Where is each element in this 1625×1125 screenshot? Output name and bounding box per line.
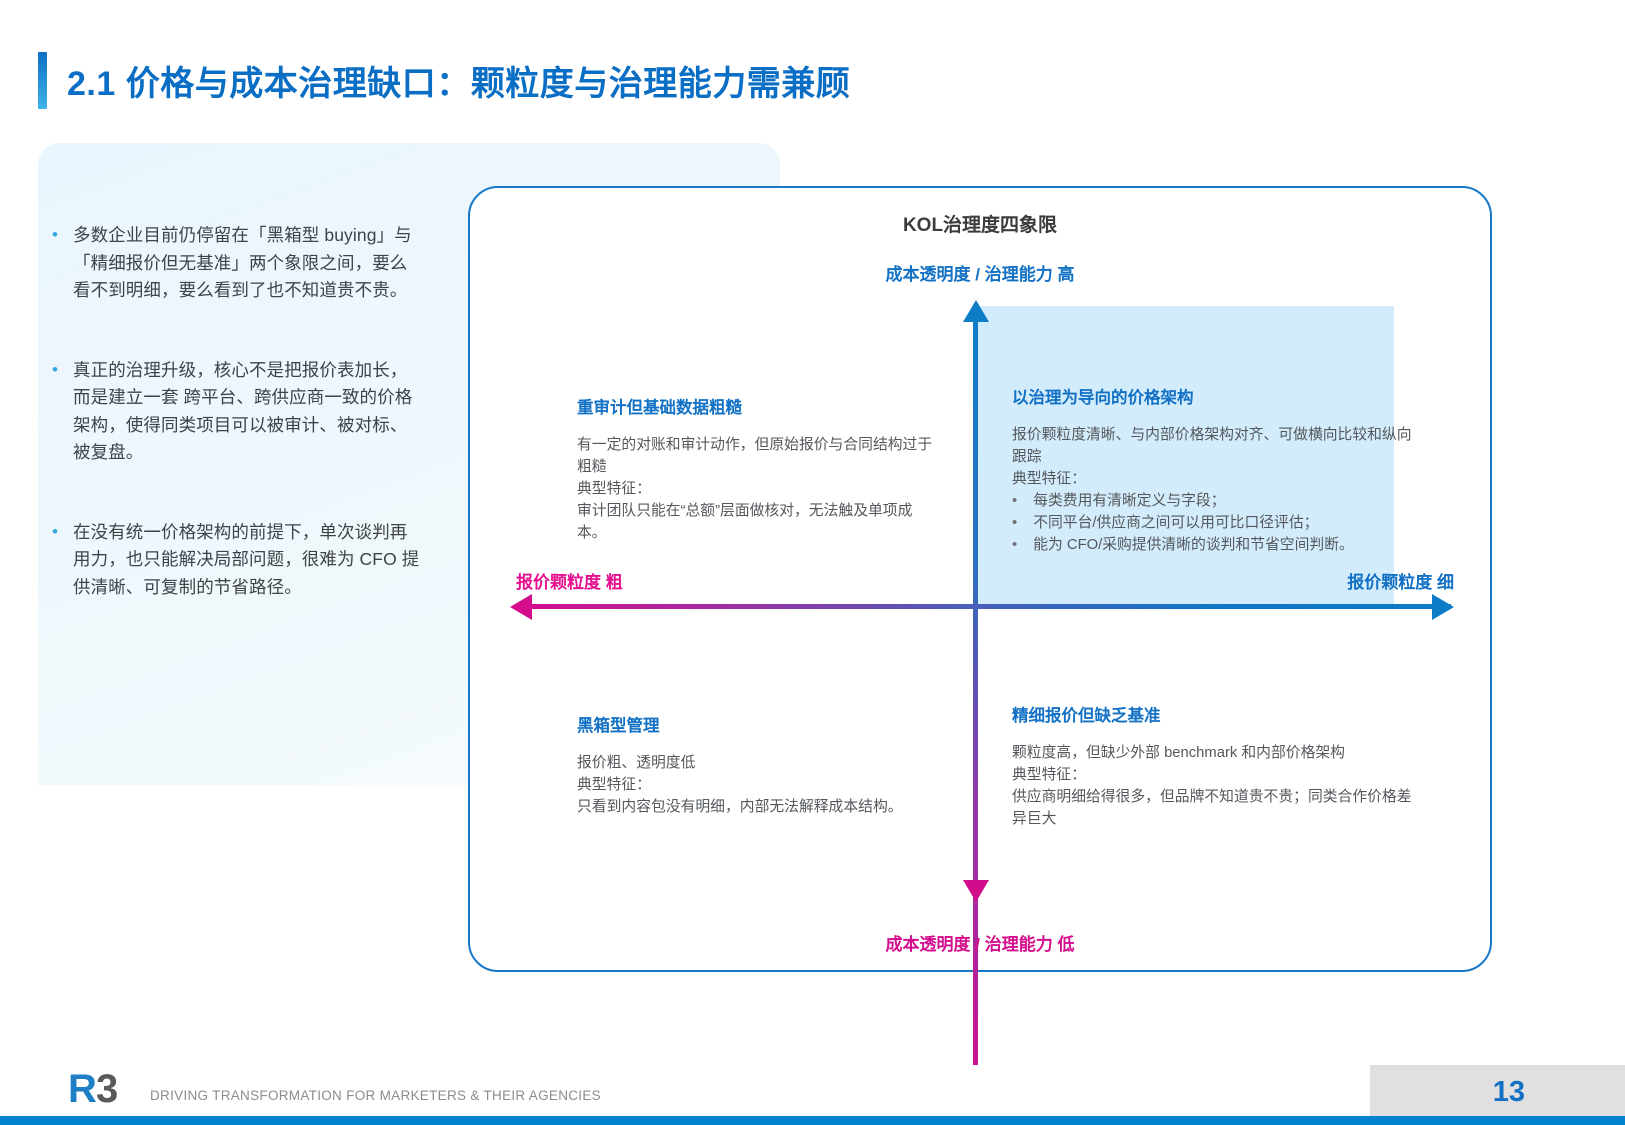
- quadrant-line: 供应商明细给得很多，但品牌不知道贵不贵；同类合作价格差异巨大: [1012, 786, 1422, 830]
- quadrant-bottom-right: 精细报价但缺乏基准 颗粒度高，但缺少外部 benchmark 和内部价格架构 典…: [1012, 702, 1422, 830]
- quadrant-line: 典型特征：: [1012, 468, 1422, 490]
- logo-letter-3: 3: [96, 1071, 118, 1107]
- quadrant-line: 典型特征：: [577, 774, 937, 796]
- r3-logo: R 3 DRIVING TRANSFORMATION FOR MARKETERS…: [68, 1071, 601, 1107]
- quadrant-sub-item: • 每类费用有清晰定义与字段；: [1012, 490, 1422, 512]
- list-item: • 真正的治理升级，核心不是把报价表加长，而是建立一套 跨平台、跨供应商一致的价…: [52, 357, 422, 467]
- title-accent-bar: [38, 52, 47, 109]
- quadrant-line: 只看到内容包没有明细，内部无法解释成本结构。: [577, 796, 937, 818]
- page-number: 13: [1493, 1076, 1525, 1109]
- quadrant-line: 颗粒度高，但缺少外部 benchmark 和内部价格架构: [1012, 742, 1422, 764]
- bullet-dot-icon: •: [1012, 490, 1017, 512]
- list-item: • 多数企业目前仍停留在「黑箱型 buying」与「精细报价但无基准」两个象限之…: [52, 222, 422, 305]
- axis-arrow-down-icon: [963, 880, 989, 902]
- quadrant-line: 审计团队只能在“总额”层面做核对，无法触及单项成本。: [577, 500, 937, 544]
- page-title-row: 2.1 价格与成本治理缺口：颗粒度与治理能力需兼顾: [38, 52, 850, 109]
- quadrant-top-right: 以治理为导向的价格架构 报价颗粒度清晰、与内部价格架构对齐、可做横向比较和纵向跟…: [1012, 384, 1422, 556]
- page-title: 2.1 价格与成本治理缺口：颗粒度与治理能力需兼顾: [67, 56, 850, 105]
- quadrant-body: 报价颗粒度清晰、与内部价格架构对齐、可做横向比较和纵向跟踪 典型特征： • 每类…: [1012, 424, 1422, 556]
- quadrant-line: 报价颗粒度清晰、与内部价格架构对齐、可做横向比较和纵向跟踪: [1012, 424, 1422, 468]
- axis-label-y-high: 成本透明度 / 治理能力 高: [470, 260, 1490, 285]
- quadrant-sub-text: 不同平台/供应商之间可以用可比口径评估；: [1033, 512, 1318, 534]
- footer-tagline: DRIVING TRANSFORMATION FOR MARKETERS & T…: [150, 1088, 601, 1107]
- axis-label-x-high: 报价颗粒度 细: [1347, 568, 1454, 593]
- bullet-dot-icon: •: [52, 357, 60, 467]
- bullet-dot-icon: •: [52, 222, 60, 305]
- axis-arrow-left-icon: [510, 594, 532, 620]
- horizontal-axis-line: [523, 604, 1451, 609]
- axis-label-x-low: 报价颗粒度 粗: [516, 568, 623, 593]
- quadrant-sub-text: 每类费用有清晰定义与字段；: [1033, 490, 1225, 512]
- quadrant-heading: 黑箱型管理: [577, 712, 937, 736]
- quadrant-heading: 重审计但基础数据粗糙: [577, 394, 937, 418]
- bullet-text: 多数企业目前仍停留在「黑箱型 buying」与「精细报价但无基准」两个象限之间，…: [73, 222, 422, 305]
- bullet-list: • 多数企业目前仍停留在「黑箱型 buying」与「精细报价但无基准」两个象限之…: [52, 222, 422, 653]
- footer-blue-bar: [0, 1116, 1625, 1125]
- logo-letter-r: R: [68, 1071, 95, 1107]
- bullet-text: 真正的治理升级，核心不是把报价表加长，而是建立一套 跨平台、跨供应商一致的价格架…: [73, 357, 422, 467]
- quadrant-heading: 精细报价但缺乏基准: [1012, 702, 1422, 726]
- axis-arrow-up-icon: [963, 300, 989, 322]
- quadrant-sub-item: • 不同平台/供应商之间可以用可比口径评估；: [1012, 512, 1422, 534]
- quadrant-sub-text: 能为 CFO/采购提供清晰的谈判和节省空间判断。: [1033, 534, 1354, 556]
- quadrant-bottom-left: 黑箱型管理 报价粗、透明度低 典型特征： 只看到内容包没有明细，内部无法解释成本…: [577, 712, 937, 818]
- quadrant-line: 典型特征：: [1012, 764, 1422, 786]
- quadrant-chart-card: KOL治理度四象限 成本透明度 / 治理能力 高 成本透明度 / 治理能力 低 …: [468, 186, 1492, 972]
- quadrant-plot: 成本透明度 / 治理能力 高 成本透明度 / 治理能力 低 报价颗粒度 粗 报价…: [470, 188, 1490, 970]
- bullet-dot-icon: •: [1012, 534, 1017, 556]
- footer: R 3 DRIVING TRANSFORMATION FOR MARKETERS…: [0, 1065, 1625, 1125]
- quadrant-sub-item: • 能为 CFO/采购提供清晰的谈判和节省空间判断。: [1012, 534, 1422, 556]
- bullet-text: 在没有统一价格架构的前提下，单次谈判再用力，也只能解决局部问题，很难为 CFO …: [73, 519, 422, 602]
- quadrant-body: 颗粒度高，但缺少外部 benchmark 和内部价格架构 典型特征： 供应商明细…: [1012, 742, 1422, 830]
- quadrant-heading: 以治理为导向的价格架构: [1012, 384, 1422, 408]
- bullet-dot-icon: •: [52, 519, 60, 602]
- slide-root: 2.1 价格与成本治理缺口：颗粒度与治理能力需兼顾 • 多数企业目前仍停留在「黑…: [0, 0, 1625, 1125]
- quadrant-body: 报价粗、透明度低 典型特征： 只看到内容包没有明细，内部无法解释成本结构。: [577, 752, 937, 818]
- quadrant-line: 典型特征：: [577, 478, 937, 500]
- axis-arrow-right-icon: [1432, 594, 1454, 620]
- quadrant-top-left: 重审计但基础数据粗糙 有一定的对账和审计动作，但原始报价与合同结构过于粗糙 典型…: [577, 394, 937, 544]
- quadrant-line: 报价粗、透明度低: [577, 752, 937, 774]
- list-item: • 在没有统一价格架构的前提下，单次谈判再用力，也只能解决局部问题，很难为 CF…: [52, 519, 422, 602]
- quadrant-line: 有一定的对账和审计动作，但原始报价与合同结构过于粗糙: [577, 434, 937, 478]
- bullet-dot-icon: •: [1012, 512, 1017, 534]
- axis-label-y-low: 成本透明度 / 治理能力 低: [470, 930, 1490, 955]
- vertical-axis-line: [973, 312, 978, 1090]
- quadrant-body: 有一定的对账和审计动作，但原始报价与合同结构过于粗糙 典型特征： 审计团队只能在…: [577, 434, 937, 544]
- logo-mark-icon: R 3: [68, 1071, 140, 1107]
